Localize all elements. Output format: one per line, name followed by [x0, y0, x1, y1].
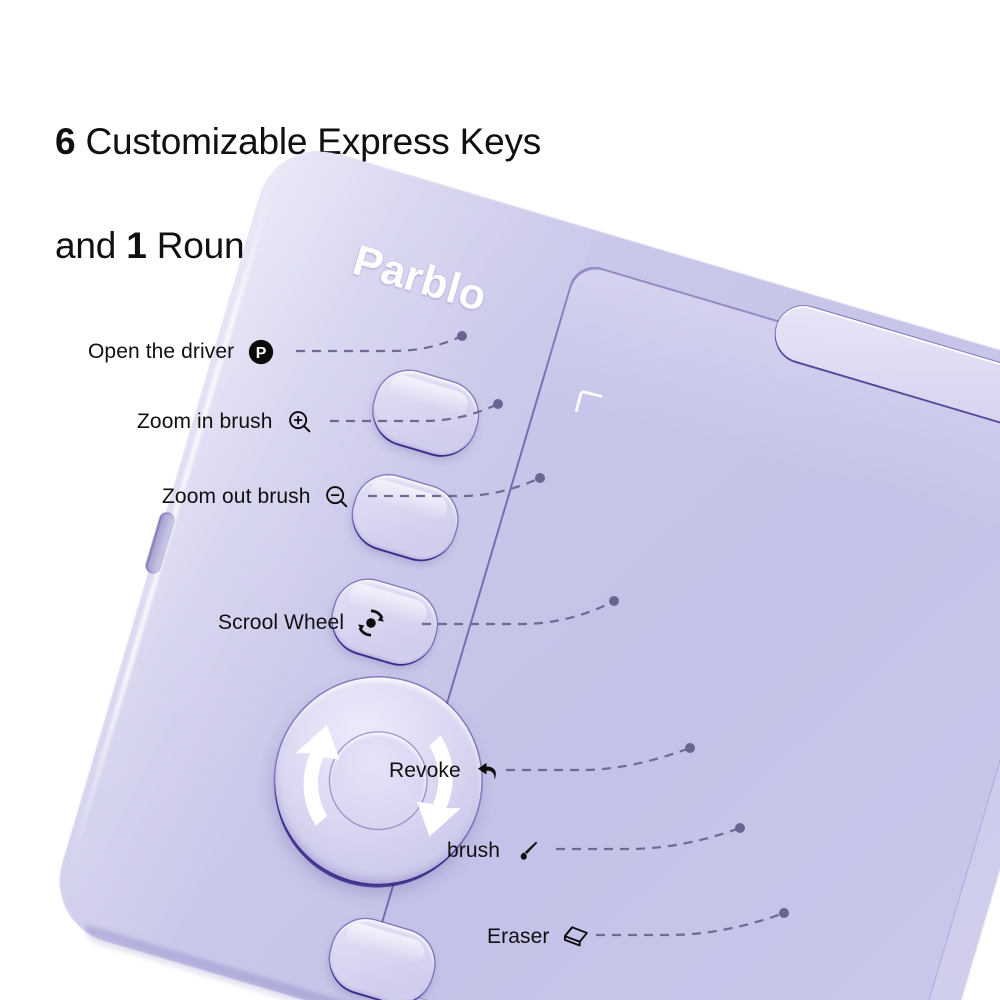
callout-scrool-wheel: Scrool Wheel [218, 608, 386, 638]
eraser-icon [561, 922, 591, 952]
undo-arrow-icon [473, 756, 503, 786]
callout-label-brush: brush [447, 839, 500, 863]
active-area-corner-mark [575, 389, 603, 417]
callout-label-eraser: Eraser [487, 925, 549, 949]
callout-label-scrool-wheel: Scrool Wheel [218, 611, 344, 635]
callout-zoom-out-brush: Zoom out brush [162, 482, 352, 512]
title-count-round: 1 [126, 225, 146, 266]
callout-brush: brush [447, 836, 542, 866]
paintbrush-icon [512, 836, 542, 866]
magnifier-minus-icon [322, 482, 352, 512]
callout-revoke: Revoke [389, 756, 503, 786]
indicator-light-bar [769, 299, 1000, 446]
svg-text:P: P [256, 345, 267, 362]
drawing-area-gloss [537, 261, 1000, 551]
rotate-wheel-icon [356, 608, 386, 638]
callout-label-zoom-out-brush: Zoom out brush [162, 485, 310, 509]
callout-zoom-in-brush: Zoom in brush [137, 407, 315, 437]
callout-label-zoom-in-brush: Zoom in brush [137, 410, 273, 434]
p-badge-icon: P [246, 337, 276, 367]
callout-label-revoke: Revoke [389, 759, 461, 783]
title-text-and: and [55, 225, 126, 266]
callout-eraser: Eraser [487, 922, 591, 952]
usb-c-port [144, 511, 175, 574]
express-key-2[interactable] [345, 467, 466, 567]
brand-logo: Parblo [347, 236, 492, 322]
magnifier-plus-icon [285, 407, 315, 437]
express-key-1[interactable] [365, 363, 486, 463]
callout-label-open-the-driver: Open the driver [88, 340, 234, 364]
drawing-area [364, 261, 1000, 1000]
callout-open-the-driver: Open the driver P [88, 337, 276, 367]
title-count-keys: 6 [55, 121, 75, 162]
infographic-canvas: 6 Customizable Express Keys and 1 Round … [0, 0, 1000, 1000]
